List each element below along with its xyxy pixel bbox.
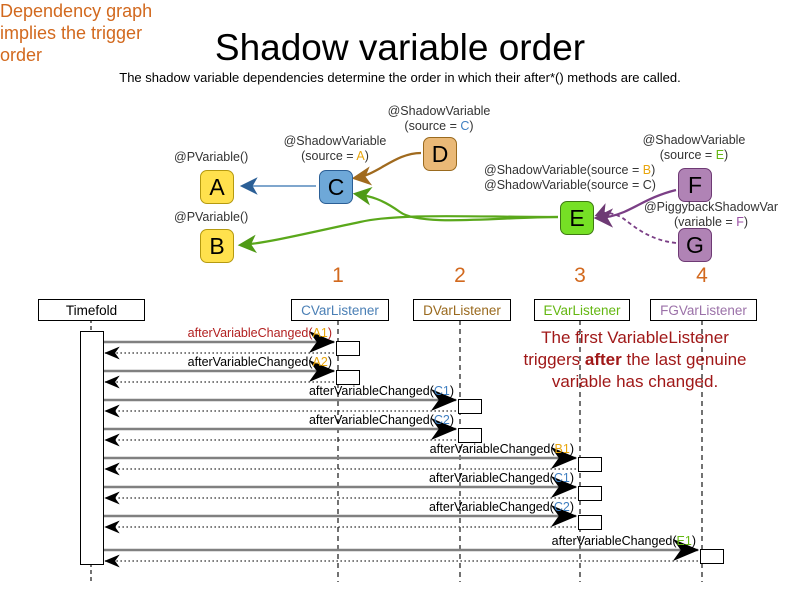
message-label-method: afterVariableChanged(: [552, 534, 677, 548]
lifeline-head-timefold[interactable]: Timefold: [38, 299, 145, 321]
emphasis-note-line1: The first VariableListener: [470, 327, 800, 349]
activation-box: [578, 457, 602, 472]
message-label-argument: E1: [677, 534, 692, 548]
message-label-close: ): [328, 355, 332, 369]
message-label-argument: A2: [313, 355, 328, 369]
message-label-method: afterVariableChanged(: [429, 500, 554, 514]
activation-box: [458, 399, 482, 414]
lifeline-head-dvarlistener-label: DVarListener: [423, 303, 501, 318]
message-label-argument: C2: [434, 413, 450, 427]
message-label: afterVariableChanged(A1): [0, 326, 332, 340]
lifeline-head-fgvarlistener[interactable]: FGVarListener: [650, 299, 757, 321]
activation-box: [700, 549, 724, 564]
emphasis-note-pre: triggers: [523, 350, 584, 369]
message-label-close: ): [692, 534, 696, 548]
message-label-close: ): [450, 384, 454, 398]
lifeline-head-evarlistener-label: EVarListener: [543, 303, 620, 318]
message-label-argument: C1: [434, 384, 450, 398]
emphasis-note: The first VariableListener triggers afte…: [470, 327, 800, 393]
message-label-argument: B1: [555, 442, 570, 456]
message-label: afterVariableChanged(C1): [0, 471, 574, 485]
activation-box: [578, 486, 602, 501]
emphasis-note-post: the last genuine: [622, 350, 747, 369]
message-label: afterVariableChanged(B1): [0, 442, 574, 456]
emphasis-note-bold: after: [585, 350, 622, 369]
message-label-method: afterVariableChanged(: [309, 384, 434, 398]
message-label-close: ): [570, 442, 574, 456]
message-label-close: ): [570, 500, 574, 514]
message-label: afterVariableChanged(C2): [0, 500, 574, 514]
message-label: afterVariableChanged(C1): [0, 384, 454, 398]
message-label-method: afterVariableChanged(: [430, 442, 555, 456]
activation-box: [336, 370, 360, 385]
activation-box: [336, 341, 360, 356]
lifeline-head-dvarlistener[interactable]: DVarListener: [413, 299, 511, 321]
message-label-method: afterVariableChanged(: [188, 326, 313, 340]
message-label-close: ): [450, 413, 454, 427]
activation-box: [458, 428, 482, 443]
message-label-argument: C1: [554, 471, 570, 485]
message-label-method: afterVariableChanged(: [309, 413, 434, 427]
message-label-method: afterVariableChanged(: [429, 471, 554, 485]
message-label-argument: C2: [554, 500, 570, 514]
emphasis-note-line3: variable has changed.: [470, 371, 800, 393]
activation-box: [578, 515, 602, 530]
lifeline-head-timefold-label: Timefold: [66, 303, 117, 318]
message-label-argument: A1: [313, 326, 328, 340]
message-label: afterVariableChanged(A2): [0, 355, 332, 369]
message-label-method: afterVariableChanged(: [188, 355, 313, 369]
emphasis-note-line2: triggers after the last genuine: [470, 349, 800, 371]
lifeline-head-fgvarlistener-label: FGVarListener: [660, 303, 747, 318]
lifeline-head-cvarlistener-label: CVarListener: [301, 303, 379, 318]
message-label: afterVariableChanged(E1): [0, 534, 696, 548]
message-label: afterVariableChanged(C2): [0, 413, 454, 427]
lifeline-head-evarlistener[interactable]: EVarListener: [534, 299, 630, 321]
message-label-close: ): [570, 471, 574, 485]
lifeline-head-cvarlistener[interactable]: CVarListener: [291, 299, 389, 321]
message-label-close: ): [328, 326, 332, 340]
